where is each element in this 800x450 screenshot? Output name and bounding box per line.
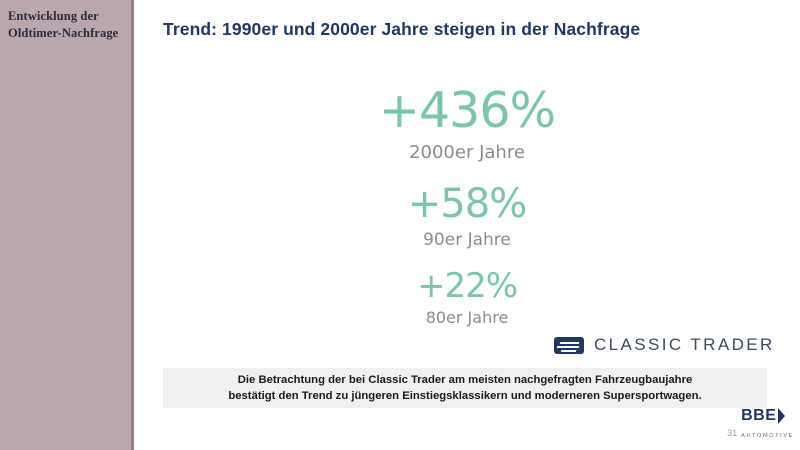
stat-label: 90er Jahre [134,232,800,249]
slide-content: Trend: 1990er und 2000er Jahre steigen i… [134,0,800,450]
slide: Entwicklung der Oldtimer-Nachfrage Trend… [0,0,800,450]
stat-item: +58% 90er Jahre [134,184,800,249]
page-title: Trend: 1990er und 2000er Jahre steigen i… [163,19,763,40]
stat-value: +22% [134,269,800,303]
caption-box: Die Betrachtung der bei Classic Trader a… [163,368,767,408]
sidebar: Entwicklung der Oldtimer-Nachfrage [0,0,131,450]
caption-line-1: Die Betrachtung der bei Classic Trader a… [228,372,701,388]
classic-trader-mark-icon [554,337,584,354]
classic-trader-logo: CLASSIC TRADER [554,335,775,355]
stat-label: 2000er Jahre [134,144,800,162]
footer-logo: 31 BBE AUTOMOTIVE [727,408,794,442]
bbe-logo: BBE AUTOMOTIVE [741,408,794,442]
caption-text: Die Betrachtung der bei Classic Trader a… [220,372,709,404]
stats-group: +436% 2000er Jahre +58% 90er Jahre +22% … [134,86,800,326]
bbe-logo-top: BBE [741,408,794,424]
stat-value: +436% [134,86,800,135]
page-number: 31 [727,428,737,442]
sidebar-section-title: Entwicklung der Oldtimer-Nachfrage [8,8,123,42]
classic-trader-wordmark: CLASSIC TRADER [594,335,775,355]
stat-value: +58% [134,184,800,224]
stat-label: 80er Jahre [134,310,800,326]
caption-line-2: bestätigt den Trend zu jüngeren Einstieg… [228,388,701,404]
bbe-tagline: AUTOMOTIVE [741,433,794,439]
stat-item: +22% 80er Jahre [134,269,800,326]
chevron-right-icon [778,408,785,424]
stat-item: +436% 2000er Jahre [134,86,800,162]
bbe-wordmark: BBE [741,408,776,424]
